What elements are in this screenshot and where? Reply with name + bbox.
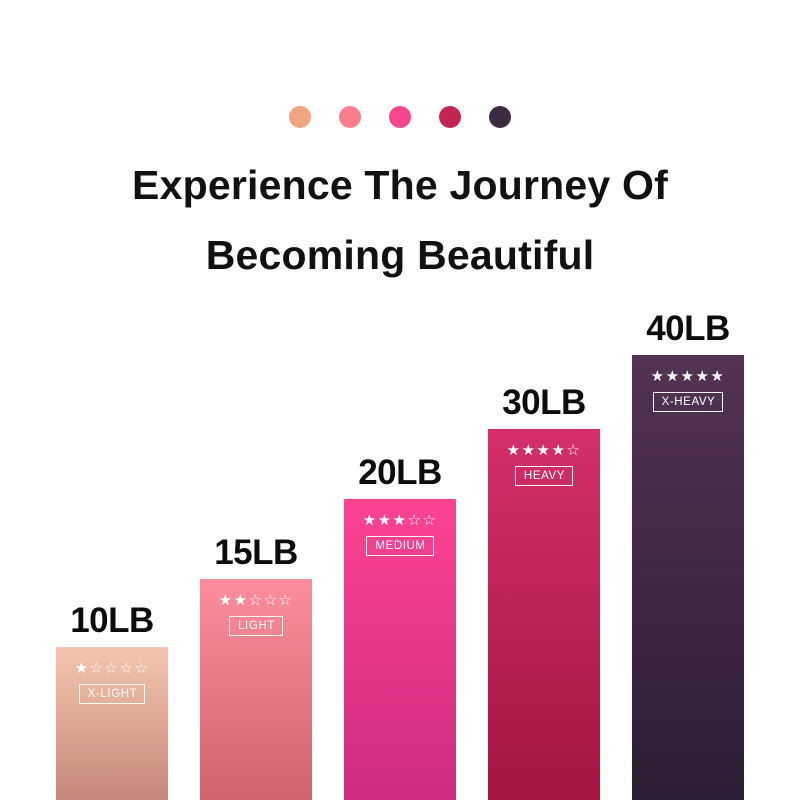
bar-rating-stars-15lb: ★★☆☆☆	[219, 593, 294, 609]
bar-level-badge-10lb: X-LIGHT	[79, 684, 146, 704]
bar-weight-label-20lb: 20LB	[358, 453, 442, 493]
bar-level-badge-15lb: LIGHT	[229, 616, 283, 636]
dot-light	[339, 106, 361, 128]
bar-column-10lb: 10LB ★☆☆☆☆ X-LIGHT	[56, 601, 168, 800]
resistance-band-poster: Experience The Journey Of Becoming Beaut…	[0, 0, 800, 800]
bar-rating-stars-40lb: ★★★★★	[651, 369, 726, 385]
bar-20lb: ★★★☆☆ MEDIUM	[344, 499, 456, 800]
dot-x-heavy	[489, 106, 511, 128]
bar-weight-label-30lb: 30LB	[502, 383, 586, 423]
headline-line-1: Experience The Journey Of	[132, 162, 668, 208]
bar-30lb: ★★★★☆ HEAVY	[488, 429, 600, 800]
bar-column-15lb: 15LB ★★☆☆☆ LIGHT	[200, 533, 312, 800]
bar-rating-stars-20lb: ★★★☆☆	[363, 513, 438, 529]
dot-heavy	[439, 106, 461, 128]
bar-column-40lb: 40LB ★★★★★ X-HEAVY	[632, 309, 744, 800]
dot-x-light	[289, 106, 311, 128]
bar-15lb: ★★☆☆☆ LIGHT	[200, 579, 312, 800]
bar-level-badge-30lb: HEAVY	[515, 466, 573, 486]
bar-column-20lb: 20LB ★★★☆☆ MEDIUM	[344, 453, 456, 800]
bar-column-30lb: 30LB ★★★★☆ HEAVY	[488, 383, 600, 800]
bar-weight-label-15lb: 15LB	[214, 533, 298, 573]
bar-level-badge-20lb: MEDIUM	[366, 536, 433, 556]
color-swatch-row	[0, 106, 800, 128]
bar-10lb: ★☆☆☆☆ X-LIGHT	[56, 647, 168, 800]
resistance-bar-chart: 10LB ★☆☆☆☆ X-LIGHT 15LB ★★☆☆☆ LIGHT 20LB…	[0, 280, 800, 800]
bar-rating-stars-30lb: ★★★★☆	[507, 443, 582, 459]
bar-40lb: ★★★★★ X-HEAVY	[632, 355, 744, 800]
bar-level-badge-40lb: X-HEAVY	[653, 392, 724, 412]
page-title: Experience The Journey Of Becoming Beaut…	[0, 150, 800, 290]
bar-weight-label-10lb: 10LB	[70, 601, 154, 641]
bar-rating-stars-10lb: ★☆☆☆☆	[75, 661, 150, 677]
bar-weight-label-40lb: 40LB	[646, 309, 730, 349]
dot-medium	[389, 106, 411, 128]
